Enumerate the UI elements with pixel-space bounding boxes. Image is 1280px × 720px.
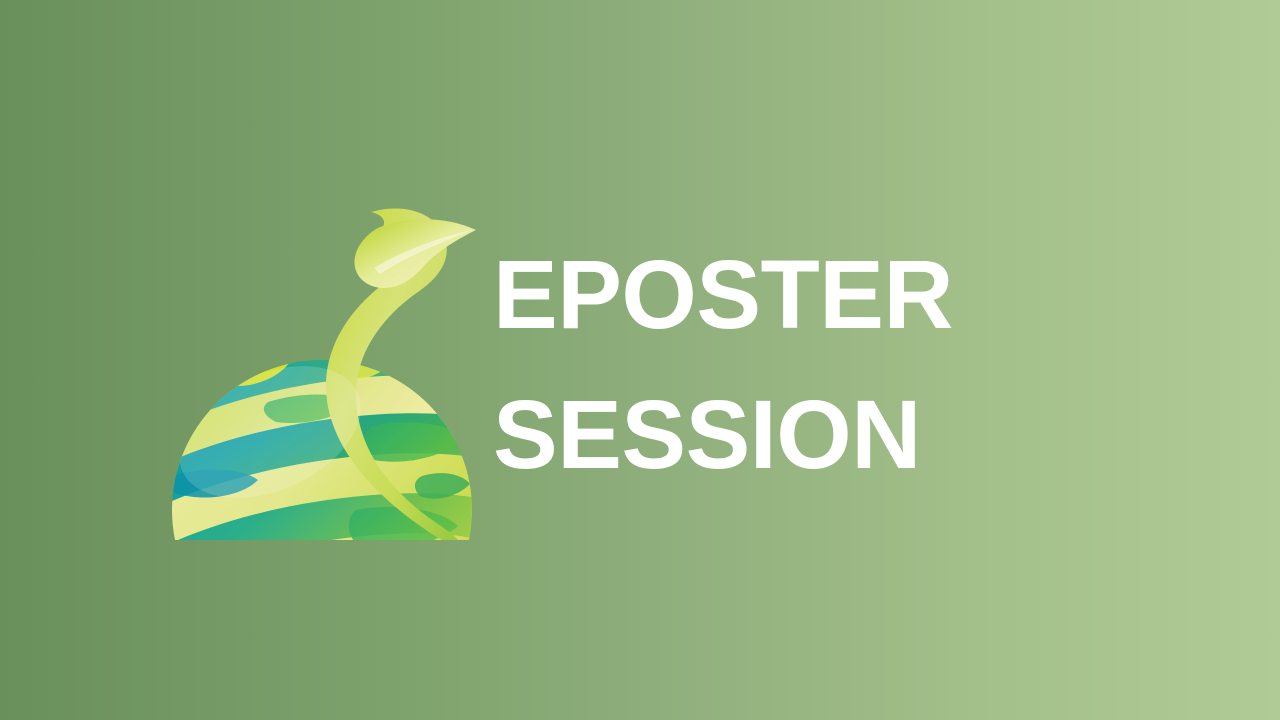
globe-leaf-logo: [150, 180, 495, 540]
title-block: EPOSTER SESSION: [493, 225, 1053, 505]
title-line-session: SESSION: [493, 365, 1053, 505]
title-line-eposter: EPOSTER: [493, 225, 1053, 365]
slide-canvas: EPOSTER SESSION: [0, 0, 1280, 720]
